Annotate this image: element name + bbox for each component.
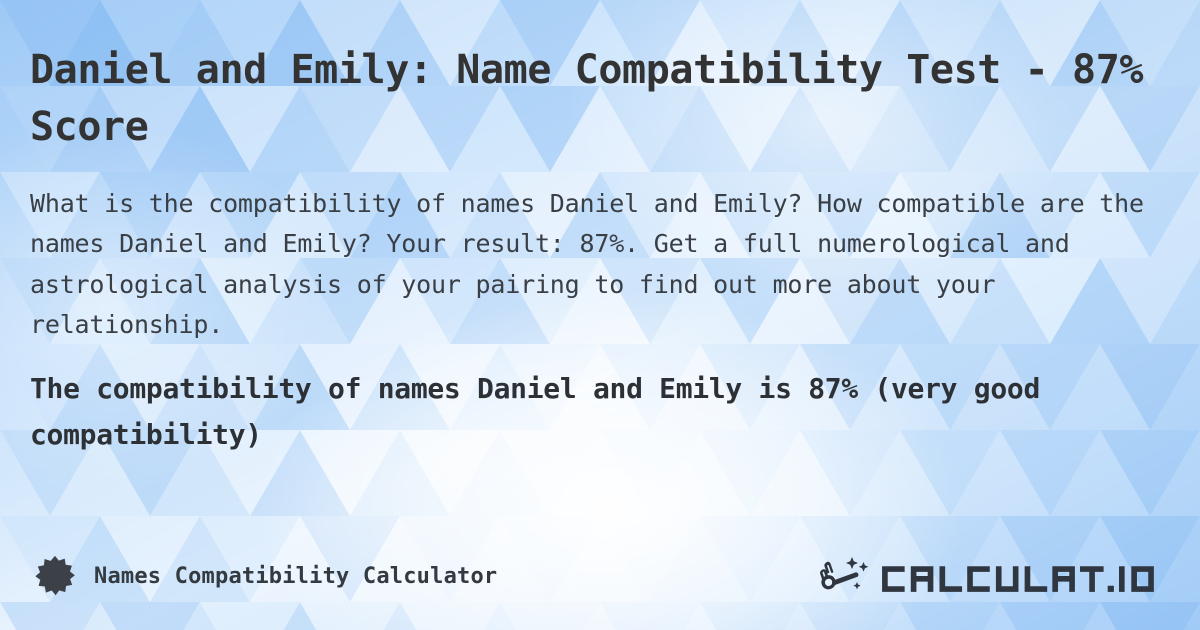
content-area: Daniel and Emily: Name Compatibility Tes… xyxy=(0,0,1200,630)
calculatio-wordmark xyxy=(879,556,1166,596)
starburst-icon xyxy=(34,555,76,597)
summary-paragraph: What is the compatibility of names Danie… xyxy=(30,184,1170,346)
share-card: Daniel and Emily: Name Compatibility Tes… xyxy=(0,0,1200,630)
compatibility-verdict: The compatibility of names Daniel and Em… xyxy=(30,366,1170,459)
tool-branding: Names Compatibility Calculator xyxy=(34,555,497,597)
tool-name-label: Names Compatibility Calculator xyxy=(94,564,497,589)
magic-wand-icon xyxy=(819,555,873,597)
page-title: Daniel and Emily: Name Compatibility Tes… xyxy=(30,42,1145,156)
footer: Names Compatibility Calculator xyxy=(0,548,1200,604)
site-logo[interactable] xyxy=(819,555,1166,597)
